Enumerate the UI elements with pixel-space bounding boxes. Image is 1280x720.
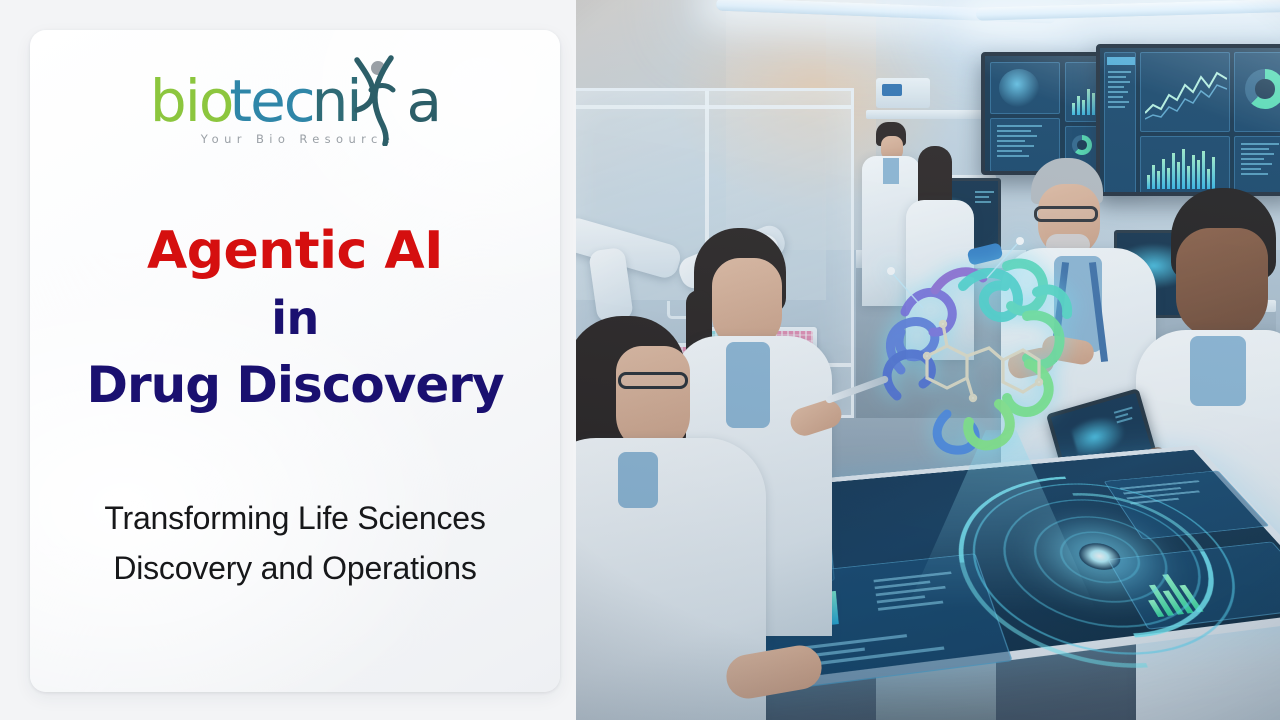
logo-text-tec: tec	[229, 72, 313, 130]
brand-logo: bio tec ni a Your Bio Resource	[30, 68, 560, 168]
instrument-screen	[882, 84, 902, 96]
enclosure-rail	[576, 105, 851, 109]
page-title: Agentic AI in Drug Discovery	[54, 220, 536, 416]
logo-wordmark: bio tec ni a	[150, 68, 440, 130]
human-figure-k-icon	[357, 68, 391, 130]
slide-canvas: bio tec ni a Your Bio Resource Agentic A…	[0, 0, 1280, 720]
title-line-1: Agentic AI	[54, 220, 536, 282]
lab-photo	[576, 0, 1280, 720]
protein-ribbon-hologram	[831, 200, 1131, 500]
face	[1176, 228, 1268, 338]
shirt	[618, 452, 658, 508]
title-line-3: Drug Discovery	[54, 354, 536, 416]
wall-shelf	[866, 110, 996, 119]
logo-text-a: a	[407, 72, 441, 130]
title-card: bio tec ni a Your Bio Resource Agentic A…	[30, 30, 560, 692]
logo-text-bio: bio	[150, 72, 232, 130]
shirt	[883, 158, 899, 184]
analytics-dashboard-display	[1096, 44, 1280, 196]
screen-glare	[1100, 48, 1280, 192]
face	[616, 346, 690, 452]
shirt	[726, 342, 770, 428]
subtitle: Transforming Life Sciences Discovery and…	[70, 493, 520, 593]
eyeglasses-icon	[618, 372, 688, 389]
title-line-2: in	[54, 282, 536, 354]
shirt	[1190, 336, 1246, 406]
